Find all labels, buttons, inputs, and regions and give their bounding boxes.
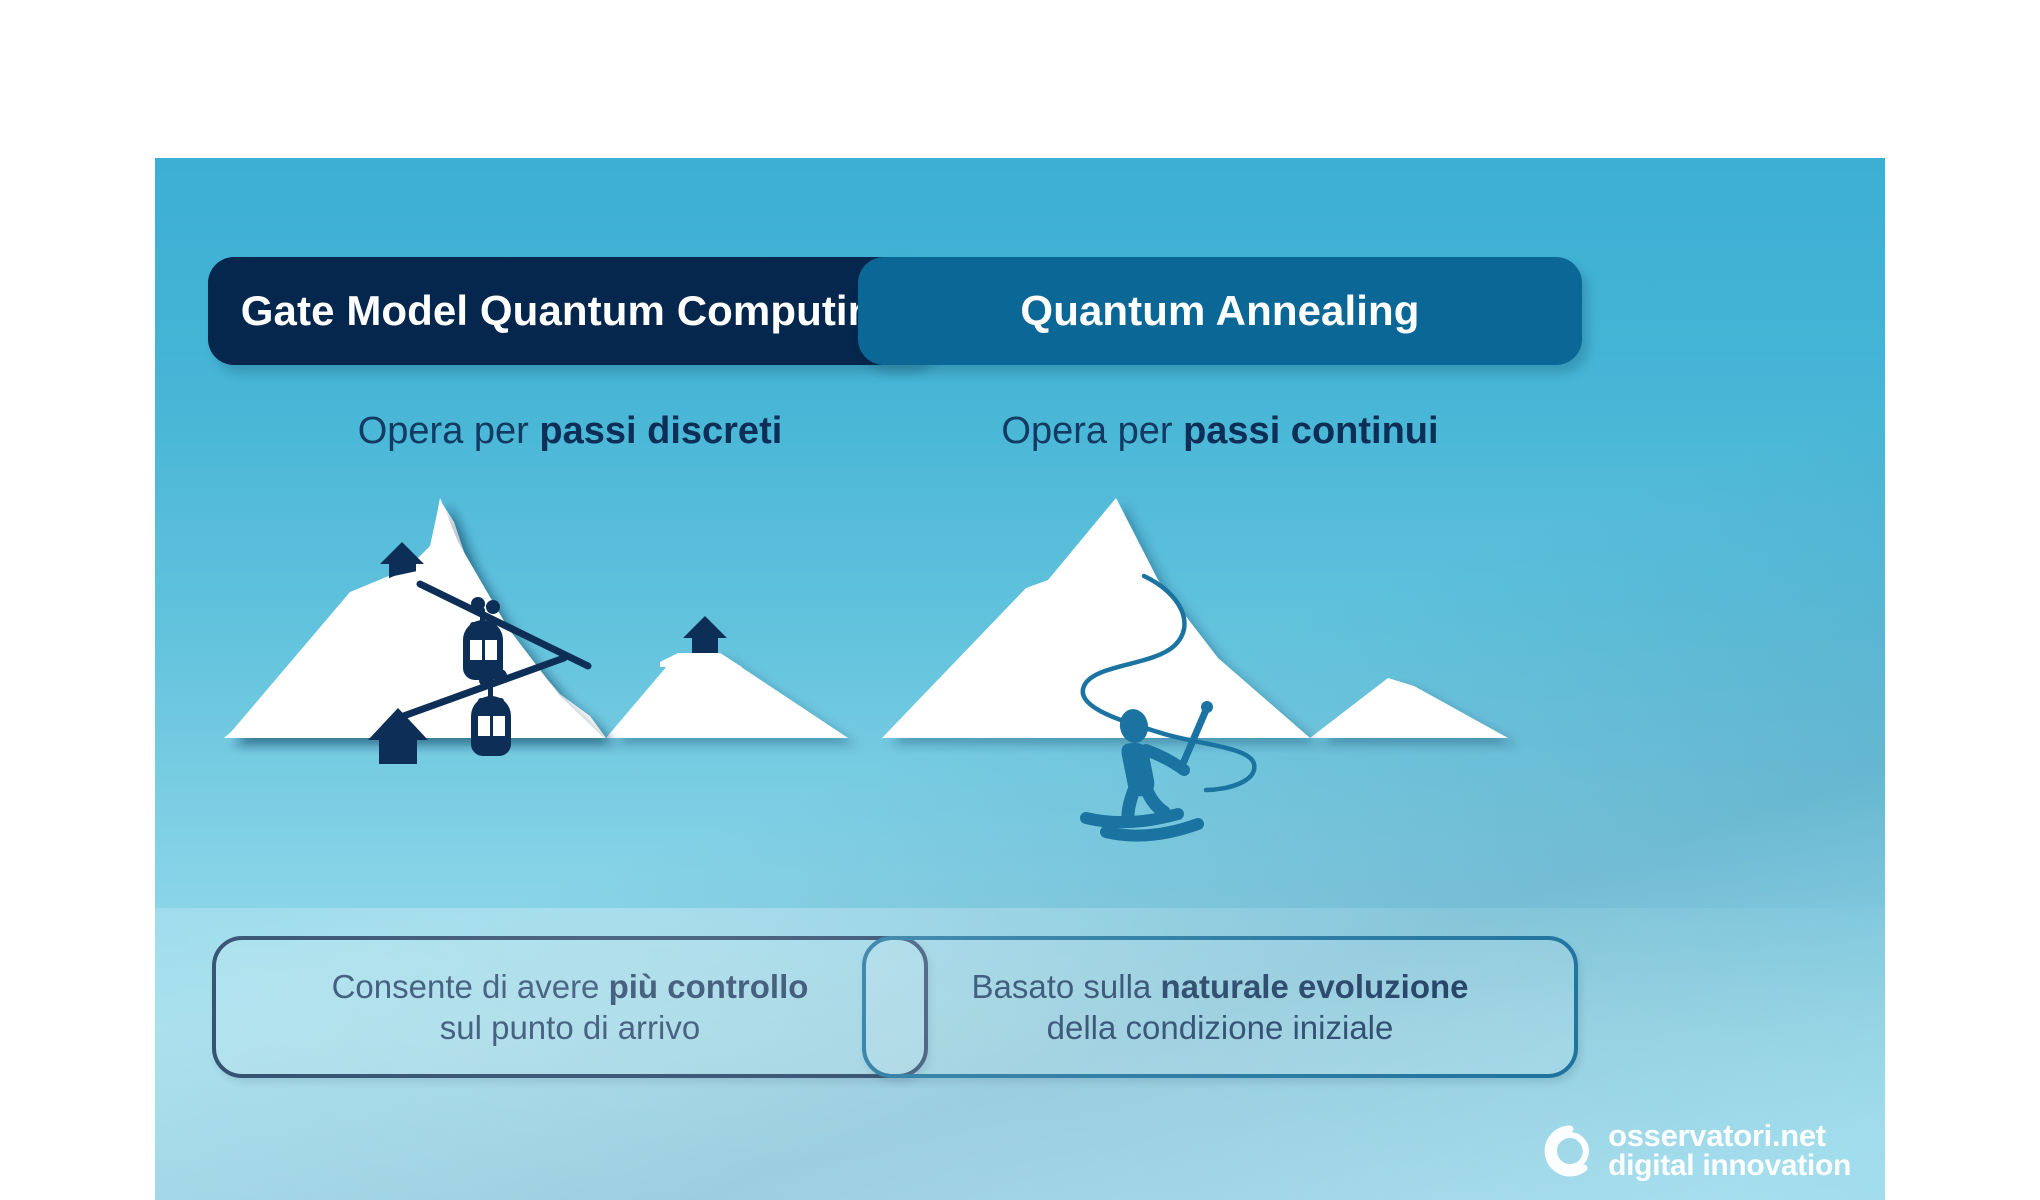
column-gate-model: Gate Model Quantum Computing Opera per p… [208, 158, 938, 1200]
mountain-large-ann [882, 498, 1310, 738]
callout-gate-model-line1-prefix: Consente di avere [332, 968, 609, 1005]
subtitle-quantum-annealing-prefix: Opera per [1001, 410, 1183, 452]
logo-line-digital-innovation: digital innovation [1608, 1151, 1851, 1182]
mountain-large-silhouette [224, 498, 604, 738]
logo-line-osservatori: osservatori.net [1608, 1120, 1851, 1152]
column-quantum-annealing: Quantum Annealing Opera per passi contin… [858, 158, 1588, 1200]
illustration-mountain-cable-cars [208, 488, 932, 848]
callout-gate-model-line2: sul punto di arrivo [440, 1007, 700, 1048]
callout-quantum-annealing-line1: Basato sulla naturale evoluzione [971, 966, 1468, 1007]
banner-gate-model: Gate Model Quantum Computing [208, 257, 932, 365]
osservatori-ring-icon [1542, 1123, 1598, 1179]
banner-quantum-annealing-label: Quantum Annealing [1020, 287, 1419, 335]
callout-gate-model-line1: Consente di avere più controllo [332, 966, 809, 1007]
subtitle-quantum-annealing-emphasis: passi continui [1183, 410, 1438, 452]
subtitle-gate-model: Opera per passi discreti [208, 410, 932, 453]
subtitle-gate-model-emphasis: passi discreti [539, 410, 782, 452]
mountain-small-ridge [660, 653, 742, 667]
infographic-canvas: Gate Model Quantum Computing Opera per p… [155, 158, 1885, 1200]
subtitle-gate-model-prefix: Opera per [358, 410, 540, 452]
callout-quantum-annealing-line1-prefix: Basato sulla [971, 968, 1160, 1005]
callout-gate-model: Consente di avere più controllo sul punt… [212, 936, 928, 1078]
subtitle-quantum-annealing: Opera per passi continui [858, 410, 1582, 453]
mountain-small-right-ann [1310, 678, 1508, 738]
osservatori-logo-text: osservatori.net digital innovation [1608, 1120, 1851, 1182]
osservatori-logo: osservatori.net digital innovation [1542, 1120, 1851, 1182]
callout-quantum-annealing: Basato sulla naturale evoluzione della c… [862, 936, 1578, 1078]
callout-gate-model-line1-emphasis: più controllo [609, 968, 809, 1005]
callout-quantum-annealing-line1-emphasis: naturale evoluzione [1160, 968, 1468, 1005]
callout-quantum-annealing-line2: della condizione iniziale [1047, 1007, 1394, 1048]
illustration-mountain-skier [858, 488, 1582, 848]
station-house-mid-icon [683, 616, 727, 654]
banner-gate-model-label: Gate Model Quantum Computing [241, 287, 899, 335]
banner-quantum-annealing: Quantum Annealing [858, 257, 1582, 365]
